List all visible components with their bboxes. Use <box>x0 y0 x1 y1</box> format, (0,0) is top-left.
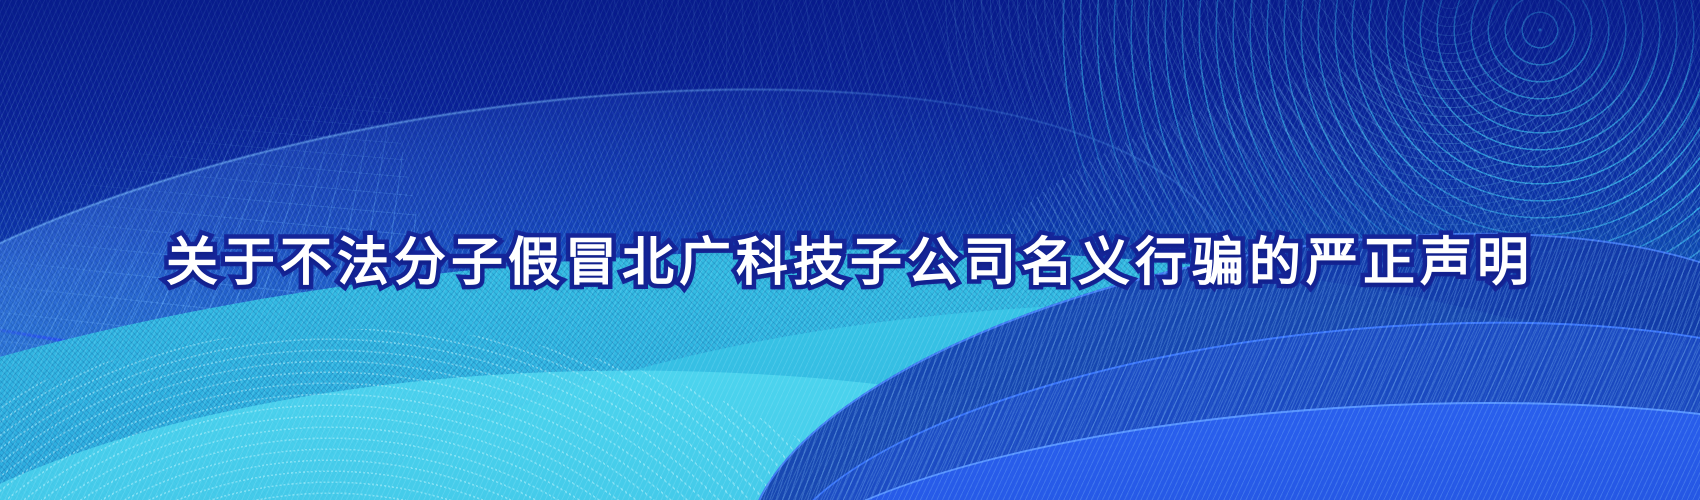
title-container: 关于不法分子假冒北广科技子公司名义行骗的严正声明 <box>0 0 1700 500</box>
page-title: 关于不法分子假冒北广科技子公司名义行骗的严正声明 <box>166 220 1534 295</box>
announcement-banner: 关于不法分子假冒北广科技子公司名义行骗的严正声明 <box>0 0 1700 500</box>
